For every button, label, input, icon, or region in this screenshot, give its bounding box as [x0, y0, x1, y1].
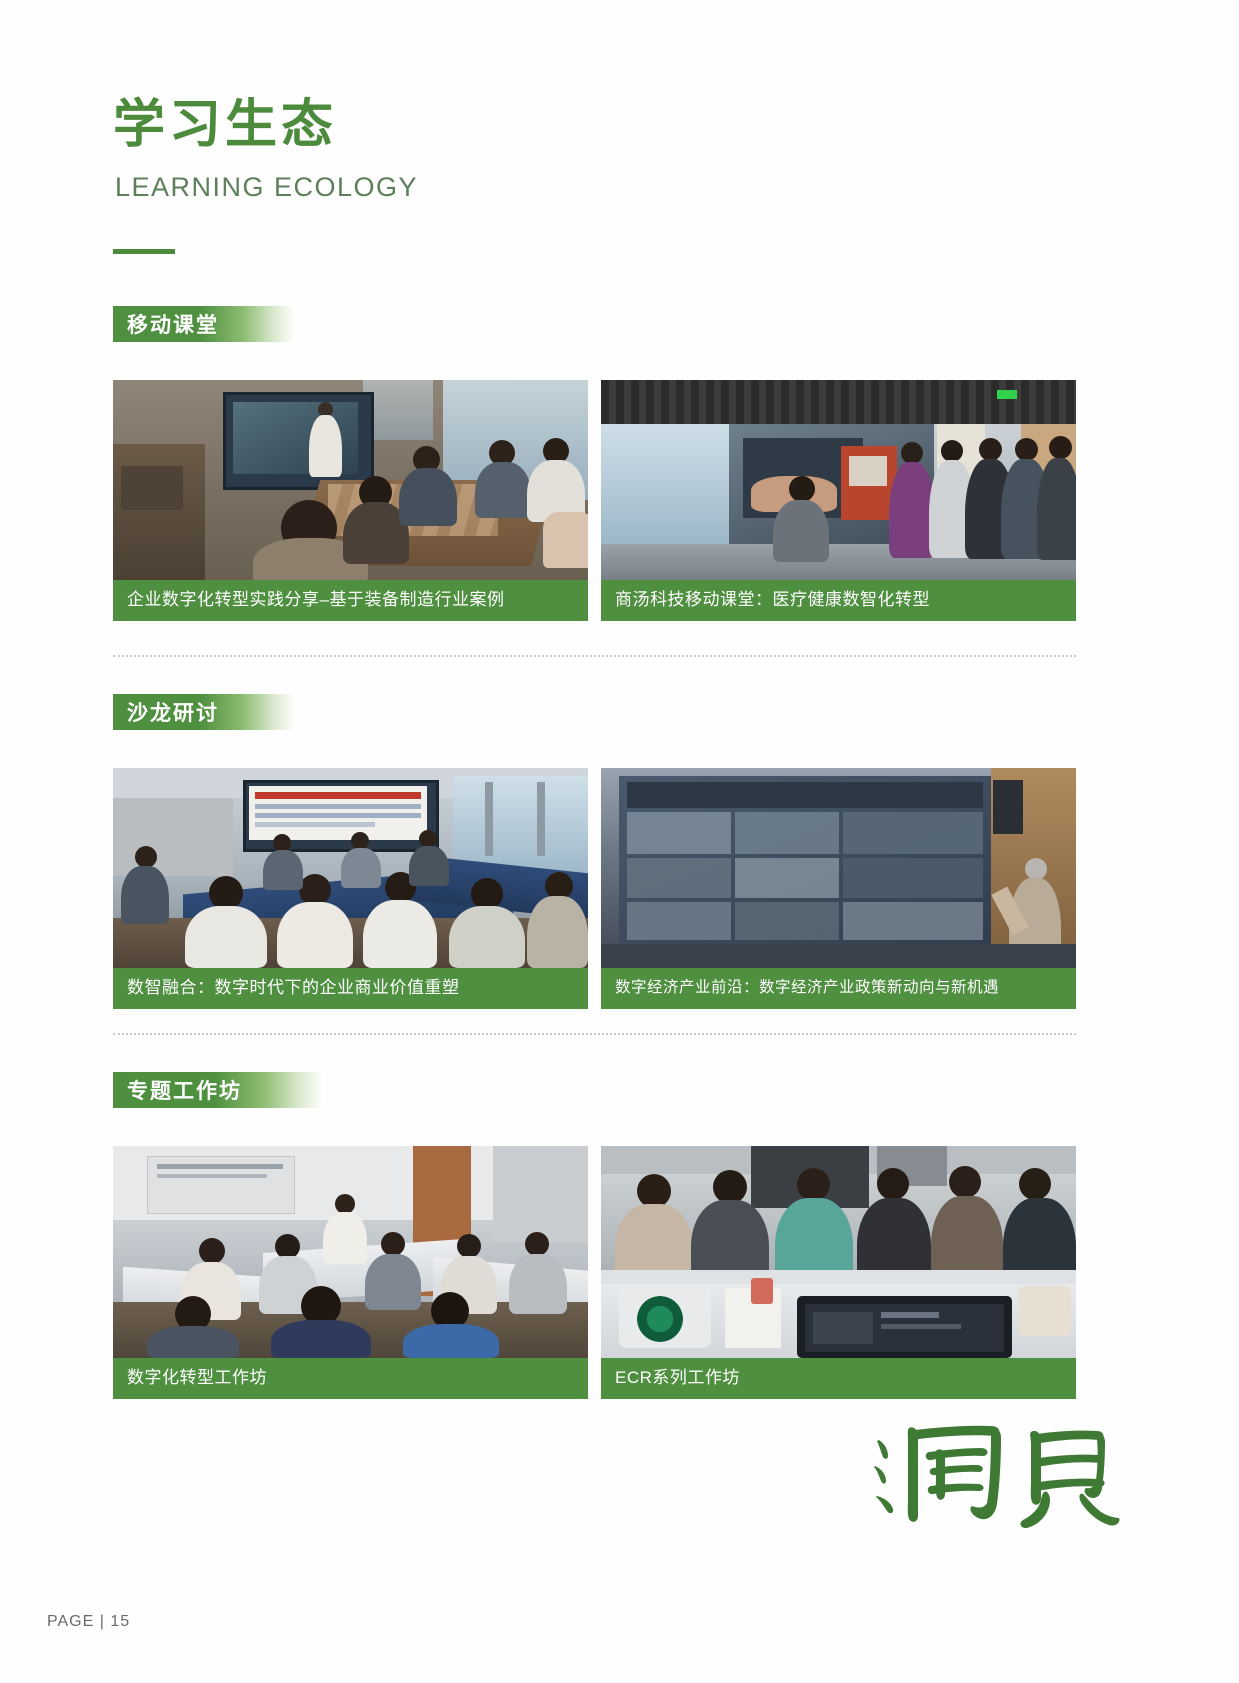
- section-badge-label: 移动课堂: [127, 309, 219, 339]
- card-photo-conference-room-presentation: [113, 380, 588, 580]
- card-photo-workshop-discussion-table: [601, 1146, 1076, 1358]
- section-badge: 专题工作坊: [113, 1072, 323, 1108]
- section-separator: [113, 1033, 1076, 1035]
- section-salon-seminar: 沙龙研讨: [0, 694, 1239, 1009]
- card-caption: 数智融合：数字时代下的企业商业价值重塑: [113, 968, 588, 1009]
- section-mobile-classroom: 移动课堂: [0, 306, 1239, 621]
- brand-calligraphy-logo: [871, 1410, 1121, 1535]
- page-subtitle: LEARNING ECOLOGY: [115, 172, 813, 203]
- section-thematic-workshop: 专题工作坊: [0, 1072, 1239, 1399]
- title-divider: [113, 249, 175, 254]
- page-footer: PAGE | 15: [47, 1613, 130, 1631]
- card[interactable]: 数智融合：数字时代下的企业商业价值重塑: [113, 768, 588, 1009]
- card-caption: 企业数字化转型实践分享–基于装备制造行业案例: [113, 580, 588, 621]
- card[interactable]: ECR系列工作坊: [601, 1146, 1076, 1399]
- card-photo-lecture-hall-speaker: [601, 768, 1076, 968]
- card[interactable]: 数字化转型工作坊: [113, 1146, 588, 1399]
- card-caption: 商汤科技移动课堂：医疗健康数智化转型: [601, 580, 1076, 621]
- section-badge: 移动课堂: [113, 306, 295, 342]
- card-photo-seminar-long-table: [113, 768, 588, 968]
- card[interactable]: 商汤科技移动课堂：医疗健康数智化转型: [601, 380, 1076, 621]
- section-badge: 沙龙研讨: [113, 694, 295, 730]
- page-header: 学习生态 LEARNING ECOLOGY: [113, 96, 813, 254]
- section-badge-label: 专题工作坊: [127, 1075, 242, 1105]
- section-separator: [113, 655, 1076, 657]
- card-caption: 数字化转型工作坊: [113, 1358, 588, 1399]
- page-title: 学习生态: [113, 96, 813, 156]
- section-badge-label: 沙龙研讨: [127, 697, 219, 727]
- card[interactable]: 企业数字化转型实践分享–基于装备制造行业案例: [113, 380, 588, 621]
- card-caption: ECR系列工作坊: [601, 1358, 1076, 1399]
- card-grid: 企业数字化转型实践分享–基于装备制造行业案例: [113, 380, 1076, 621]
- card[interactable]: 数字经济产业前沿：数字经济产业政策新动向与新机遇: [601, 768, 1076, 1009]
- card-grid: 数智融合：数字时代下的企业商业价值重塑: [113, 768, 1076, 1009]
- page-canvas: 学习生态 LEARNING ECOLOGY 移动课堂: [0, 0, 1239, 1683]
- card-caption: 数字经济产业前沿：数字经济产业政策新动向与新机遇: [601, 968, 1076, 1009]
- card-photo-showroom-group-visit: [601, 380, 1076, 580]
- card-grid: 数字化转型工作坊: [113, 1146, 1076, 1399]
- card-photo-workshop-round-tables: [113, 1146, 588, 1358]
